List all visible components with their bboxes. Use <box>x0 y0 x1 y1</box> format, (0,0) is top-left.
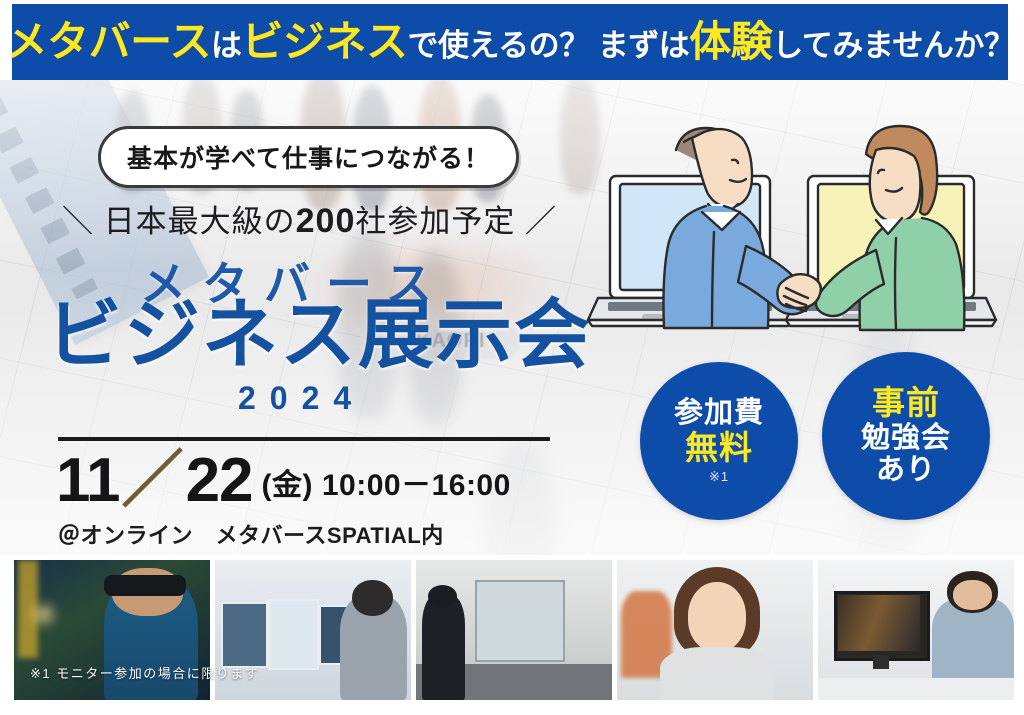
title-line-large: ビジネス展示会 <box>46 298 592 374</box>
event-venue: ＠オンライン メタバースSPATIAL内 <box>58 518 444 550</box>
handshake-laptops-illustration <box>580 88 1024 360</box>
tagline-pill-badge: 基本が学べて仕事につながる！ <box>98 126 519 188</box>
subheadline: ＼ 日本最大級の200社参加予定 ／ <box>62 196 557 241</box>
event-month: 11 <box>56 452 120 511</box>
fee-badge-line2: 無料 <box>685 430 753 467</box>
event-dateline: 11／22(金) 10:00－16:00 <box>56 452 511 511</box>
date-slash: ／ <box>120 452 186 511</box>
title-year: 2024 <box>238 380 365 417</box>
badge-participation-fee: 参加費 無料 ※1 <box>640 362 798 520</box>
banner-segment-3: ビジネス <box>242 18 408 65</box>
subheadline-prefix: ＼ 日本最大級の <box>62 204 296 239</box>
banner-segment-4: で使えるの？ まずは <box>408 28 690 63</box>
prep-badge-line2: 勉強会 <box>861 422 951 454</box>
tagline-pill-label: 基本が学べて仕事につながる！ <box>127 145 490 173</box>
banner-segment-2: は <box>211 28 242 63</box>
prep-badge-line3: あり <box>876 454 936 486</box>
fee-badge-note: ※1 <box>709 469 729 485</box>
handshake-laptops-svg <box>580 88 1024 360</box>
banner-headline: メタバースはビジネスで使えるの？ まずは体験してみませんか？ <box>12 21 1008 63</box>
badge-prep-session: 事前 勉強会 あり <box>822 352 990 520</box>
flyer-poster: メタバースはビジネスで使えるの？ まずは体験してみませんか？ KAORI nik… <box>0 0 1024 715</box>
event-time: (金) 10:00－16:00 <box>253 460 511 511</box>
prep-badge-line1: 事前 <box>872 385 940 422</box>
photo-3-office-vr-user <box>416 560 612 700</box>
fee-badge-line1: 参加費 <box>674 397 764 429</box>
subheadline-suffix: 社参加予定 ／ <box>355 204 557 239</box>
subheadline-number: 200 <box>296 202 356 240</box>
top-banner: メタバースはビジネスで使えるの？ まずは体験してみませんか？ <box>12 4 1008 80</box>
photo-4-smiling-woman <box>617 560 813 700</box>
footnote-text: ※1 モニター参加の場合に限ります <box>30 663 259 682</box>
divider-rule <box>58 437 550 441</box>
banner-segment-6: してみませんか？ <box>772 28 1008 63</box>
event-day: 22 <box>186 452 253 511</box>
banner-segment-5: 体験 <box>689 18 772 65</box>
banner-segment-1: メタバース <box>12 18 211 65</box>
photo-5-man-virtual-space <box>818 560 1014 700</box>
